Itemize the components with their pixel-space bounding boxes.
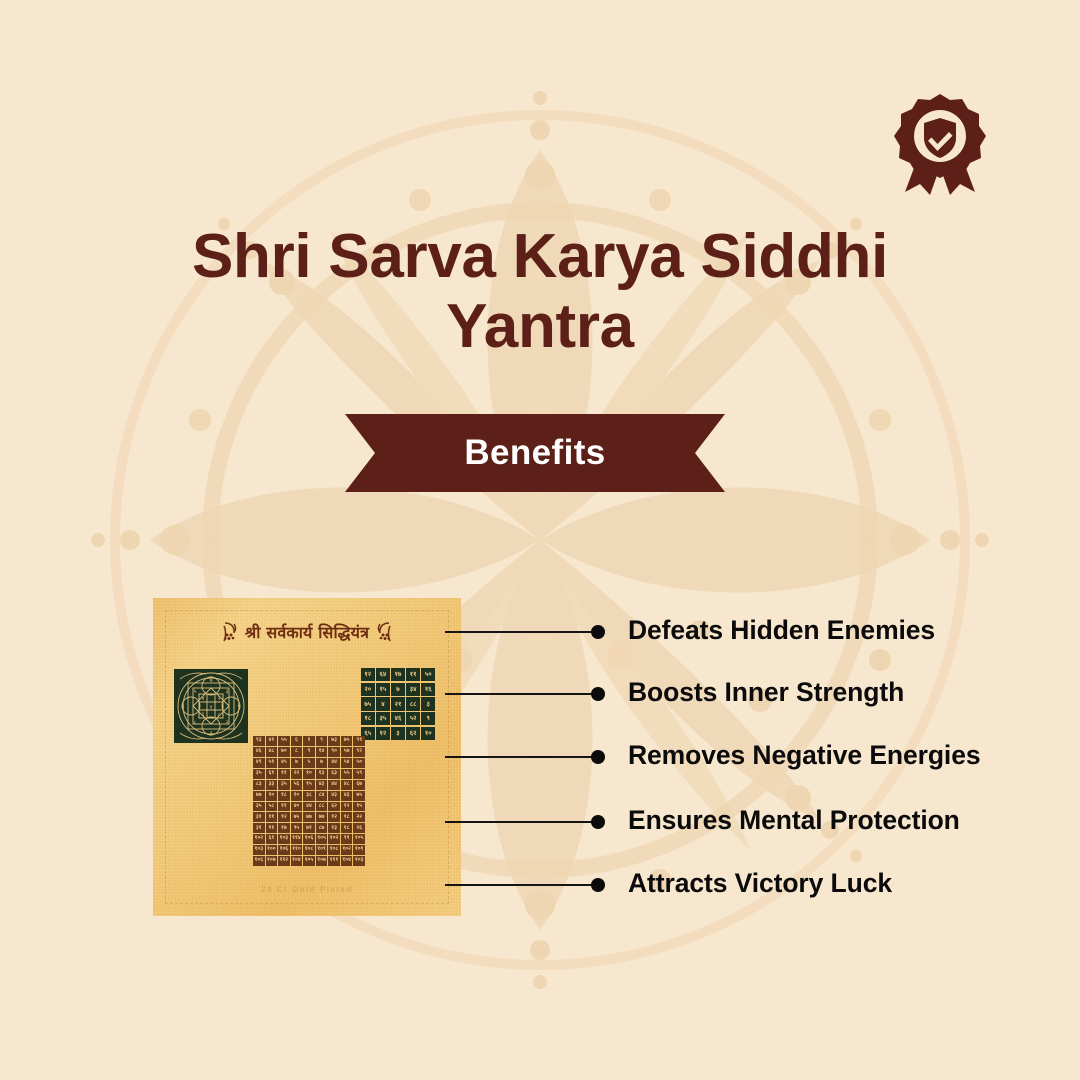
brown-grid-cell: १०४ (291, 856, 303, 866)
verified-badge-icon (884, 88, 996, 200)
green-grid-cell: १७ (391, 668, 405, 681)
brown-grid-cell: ९ (316, 736, 328, 746)
brown-grid-cell: ७३ (328, 736, 340, 746)
brown-grid-cell: ४३ (328, 791, 340, 801)
brown-grid-cell: ६१ (266, 769, 278, 779)
green-grid-cell: ९ (421, 712, 435, 725)
callout-bullet-dot (591, 878, 605, 892)
brown-grid-cell: ५५ (278, 736, 290, 746)
brown-grid-cell: ७५ (291, 812, 303, 822)
brown-grid-cell: १०५ (353, 834, 365, 844)
svg-text:५: ५ (238, 704, 241, 710)
brown-grid-cell: १८ (341, 823, 353, 833)
benefits-ribbon: Benefits (345, 414, 725, 492)
page-title-line-1: Shri Sarva Karya Siddhi (90, 222, 990, 292)
brown-grid-cell: ११ (266, 823, 278, 833)
brown-grid-cell: ४८ (341, 780, 353, 790)
brown-grid-cell: ६७ (353, 780, 365, 790)
brown-grid-cell: ७० (278, 747, 290, 757)
svg-text:८: ८ (218, 712, 221, 718)
svg-text:३: ३ (210, 731, 213, 737)
brown-grid-cell: ७७ (316, 812, 328, 822)
brown-grid-cell: २२ (291, 769, 303, 779)
green-grid-cell: १८ (361, 712, 375, 725)
brown-grid-cell: ८४ (316, 791, 328, 801)
brown-grid-cell: ४३ (316, 780, 328, 790)
brown-grid-cell: ३१ (253, 812, 265, 822)
brown-grid-cell: १०६ (303, 834, 315, 844)
brown-grid-cell: ११४ (291, 834, 303, 844)
svg-text:९: ९ (182, 704, 185, 710)
brown-grid-cell: १०२ (341, 845, 353, 855)
green-grid-cell: ४ (376, 697, 390, 710)
svg-text:८: ८ (194, 720, 197, 726)
callout-bullet-dot (591, 815, 605, 829)
brown-grid-cell: १५ (353, 802, 365, 812)
brown-grid-cell: १०० (266, 845, 278, 855)
brown-grid-cell: ५५ (341, 769, 353, 779)
benefit-label-2: Boosts Inner Strength (628, 677, 904, 708)
brown-grid-cell: ३१ (253, 823, 265, 833)
brown-grid-cell: १७ (278, 823, 290, 833)
page-title: Shri Sarva Karya Siddhi Yantra (90, 222, 990, 362)
brown-grid-cell: १०९ (316, 845, 328, 855)
callout-connector-line (445, 631, 598, 633)
brown-grid-cell: १२ (341, 802, 353, 812)
brown-grid-cell: ९९ (341, 834, 353, 844)
green-grid-cell: २१ (391, 697, 405, 710)
brown-grid-cell: ४८ (266, 747, 278, 757)
green-grid-cell: ५० (421, 668, 435, 681)
brown-grid-cell: ११० (291, 845, 303, 855)
brown-grid-cell: ८८ (316, 802, 328, 812)
brown-grid-cell: १० (291, 791, 303, 801)
brown-grid-cell: ५० (353, 758, 365, 768)
brown-grid-cell: ७ (316, 758, 328, 768)
brown-grid-cell: ४९ (253, 758, 265, 768)
callout-connector-line (445, 821, 598, 823)
callout-bullet-dot (591, 625, 605, 639)
brown-grid-cell: १२ (278, 812, 290, 822)
floral-ornament-icon (222, 621, 239, 643)
brown-grid-cell: ७५ (353, 791, 365, 801)
brown-grid-cell: १११ (328, 856, 340, 866)
brown-grid-cell: ६३ (328, 769, 340, 779)
brown-grid-cell: २६ (353, 823, 365, 833)
callout-connector-line (445, 884, 598, 886)
brown-grid-cell: १०३ (253, 845, 265, 855)
brown-grid-cell: १०३ (278, 834, 290, 844)
brown-grid-cell: १८ (341, 812, 353, 822)
green-grid-cell: २० (361, 683, 375, 696)
brown-grid-cell: ५७ (341, 747, 353, 757)
brown-grid-cell: ११ (266, 812, 278, 822)
brown-grid-cell: ४३ (341, 791, 353, 801)
brown-grid-cell: १ (303, 736, 315, 746)
brown-grid-cell: ६१ (266, 834, 278, 844)
svg-text:५: ५ (194, 689, 197, 695)
brown-grid-cell: १०२ (328, 834, 340, 844)
brown-grid-cell: १०८ (303, 845, 315, 855)
brown-grid-cell: ३३ (266, 780, 278, 790)
svg-text:३: ३ (226, 689, 229, 695)
brown-grid-cell: ७१ (303, 823, 315, 833)
green-grid-cell: ३५ (376, 712, 390, 725)
product-image-yantra-plate[interactable]: श्री सर्वकार्य सिद्धियंत्र (153, 598, 461, 916)
brown-grid-cell: १०६ (253, 856, 265, 866)
brown-grid-cell: १५ (303, 780, 315, 790)
green-grid-cell: १० (421, 727, 435, 740)
brown-grid-cell: १०१ (353, 845, 365, 855)
brown-grid-cell: १०३ (353, 856, 365, 866)
brown-grid-cell: ९० (328, 747, 340, 757)
brown-grid-cell: ४४ (328, 758, 340, 768)
green-grid-cell: ३ (391, 727, 405, 740)
brown-grid-cell: २२ (353, 812, 365, 822)
brown-grid-cell: ४४ (328, 780, 340, 790)
brown-grid-cell: ५८ (266, 802, 278, 812)
brown-grid-cell: ३८ (303, 791, 315, 801)
brown-grid-cell: ११२ (278, 856, 290, 866)
benefit-label-5: Attracts Victory Luck (628, 868, 892, 899)
brown-grid-cell: ९ (303, 747, 315, 757)
square-yantra-emblem: ७३ ९५ ४२ ६८ १ ५३ ८२ (174, 669, 248, 743)
brown-grid-cell: १० (303, 769, 315, 779)
brown-grid-cell: १४ (316, 747, 328, 757)
green-grid-cell: १२ (361, 668, 375, 681)
page-title-line-2: Yantra (90, 292, 990, 362)
brown-grid-cell: १२ (328, 812, 340, 822)
brown-grid-cell: ७७ (303, 812, 315, 822)
green-grid-cell: ११ (406, 668, 420, 681)
brown-grid-cell: ९३ (253, 736, 265, 746)
svg-text:४: ४ (202, 696, 205, 702)
brown-grid-cell: ११ (278, 802, 290, 812)
green-grid-cell: ७५ (361, 697, 375, 710)
svg-text:२: २ (226, 720, 229, 726)
ribbon-label: Benefits (345, 414, 725, 492)
svg-text:६: ६ (202, 712, 205, 718)
green-grid-cell: ४६ (391, 712, 405, 725)
svg-text:७: ७ (210, 678, 213, 684)
brown-grid-cell: ९२ (353, 747, 365, 757)
brown-grid-cell: ७७ (253, 791, 265, 801)
brown-grid-cell: ११ (278, 769, 290, 779)
callout-connector-line (445, 756, 598, 758)
brown-grid-cell: ५९ (353, 769, 365, 779)
brown-grid-cell: ९१ (353, 736, 365, 746)
brown-grid-cell: १८ (278, 791, 290, 801)
brown-grid-cell: ८३ (253, 780, 265, 790)
brown-grid-cell: ६२ (328, 802, 340, 812)
brown-grid-cell: ४५ (278, 758, 290, 768)
benefit-label-1: Defeats Hidden Enemies (628, 615, 935, 646)
green-grid-cell: १२ (376, 727, 390, 740)
brown-grid-cell: १०६ (278, 845, 290, 855)
brown-grid-cell: १३ (316, 769, 328, 779)
green-grid-cell: १५ (376, 683, 390, 696)
green-grid-cell: ६२ (406, 727, 420, 740)
brown-grid-cell: १०५ (316, 834, 328, 844)
brown-grid-cell: ४० (291, 802, 303, 812)
brown-numeric-grid: ९३४१५५६१९७३७५९१४६४८७०८९१४९०५७९२४९५१४५७५७… (253, 736, 365, 866)
brown-grid-cell: ५४ (341, 758, 353, 768)
green-grid-cell: ५२ (406, 712, 420, 725)
callout-connector-line (445, 693, 598, 695)
svg-text:१: १ (210, 705, 213, 711)
benefit-label-4: Ensures Mental Protection (628, 805, 960, 836)
benefit-label-3: Removes Negative Energies (628, 740, 980, 771)
brown-grid-cell: ५ (303, 758, 315, 768)
green-grid-cell: ८८ (406, 697, 420, 710)
green-grid-cell: ३४ (406, 683, 420, 696)
brown-grid-cell: १०५ (303, 856, 315, 866)
brown-grid-cell: १०२ (253, 834, 265, 844)
plate-watermark: 24 Ct Gold Plated (153, 885, 461, 894)
brown-grid-cell: ४१ (266, 736, 278, 746)
plate-header-text: श्री सर्वकार्य सिद्धियंत्र (245, 621, 369, 643)
brown-grid-cell: १० (266, 791, 278, 801)
green-grid-cell: ६४ (376, 668, 390, 681)
brown-grid-cell: १३ (328, 823, 340, 833)
brown-grid-cell: ७५ (341, 736, 353, 746)
brown-grid-cell: ५६ (291, 780, 303, 790)
plate-header: श्री सर्वकार्य सिद्धियंत्र (167, 616, 447, 648)
brown-grid-cell: ३५ (278, 780, 290, 790)
callout-bullet-dot (591, 750, 605, 764)
floral-ornament-icon (375, 621, 392, 643)
brown-grid-cell: ४६ (253, 747, 265, 757)
brown-grid-cell: ३५ (253, 802, 265, 812)
brown-grid-cell: ३५ (253, 769, 265, 779)
green-grid-cell: ७ (391, 683, 405, 696)
brown-grid-cell: १०८ (328, 845, 340, 855)
brown-grid-cell: ६ (291, 736, 303, 746)
brown-grid-cell: १०४ (341, 856, 353, 866)
callout-bullet-dot (591, 687, 605, 701)
svg-text:२: २ (218, 696, 221, 702)
brown-grid-cell: १०७ (266, 856, 278, 866)
brown-grid-cell: ५१ (266, 758, 278, 768)
brown-grid-cell: ४४ (303, 802, 315, 812)
brown-grid-cell: ७ (291, 758, 303, 768)
brown-grid-cell: १०७ (316, 856, 328, 866)
brown-grid-cell: ९५ (291, 823, 303, 833)
green-numeric-grid: १२६४१७११५०२०१५७३४१६७५४२१८८३१८३५४६५२९६५१२… (361, 668, 435, 740)
green-grid-cell: १६ (421, 683, 435, 696)
brown-grid-cell: ८७ (316, 823, 328, 833)
green-grid-cell: ३ (421, 697, 435, 710)
brown-grid-cell: ८ (291, 747, 303, 757)
